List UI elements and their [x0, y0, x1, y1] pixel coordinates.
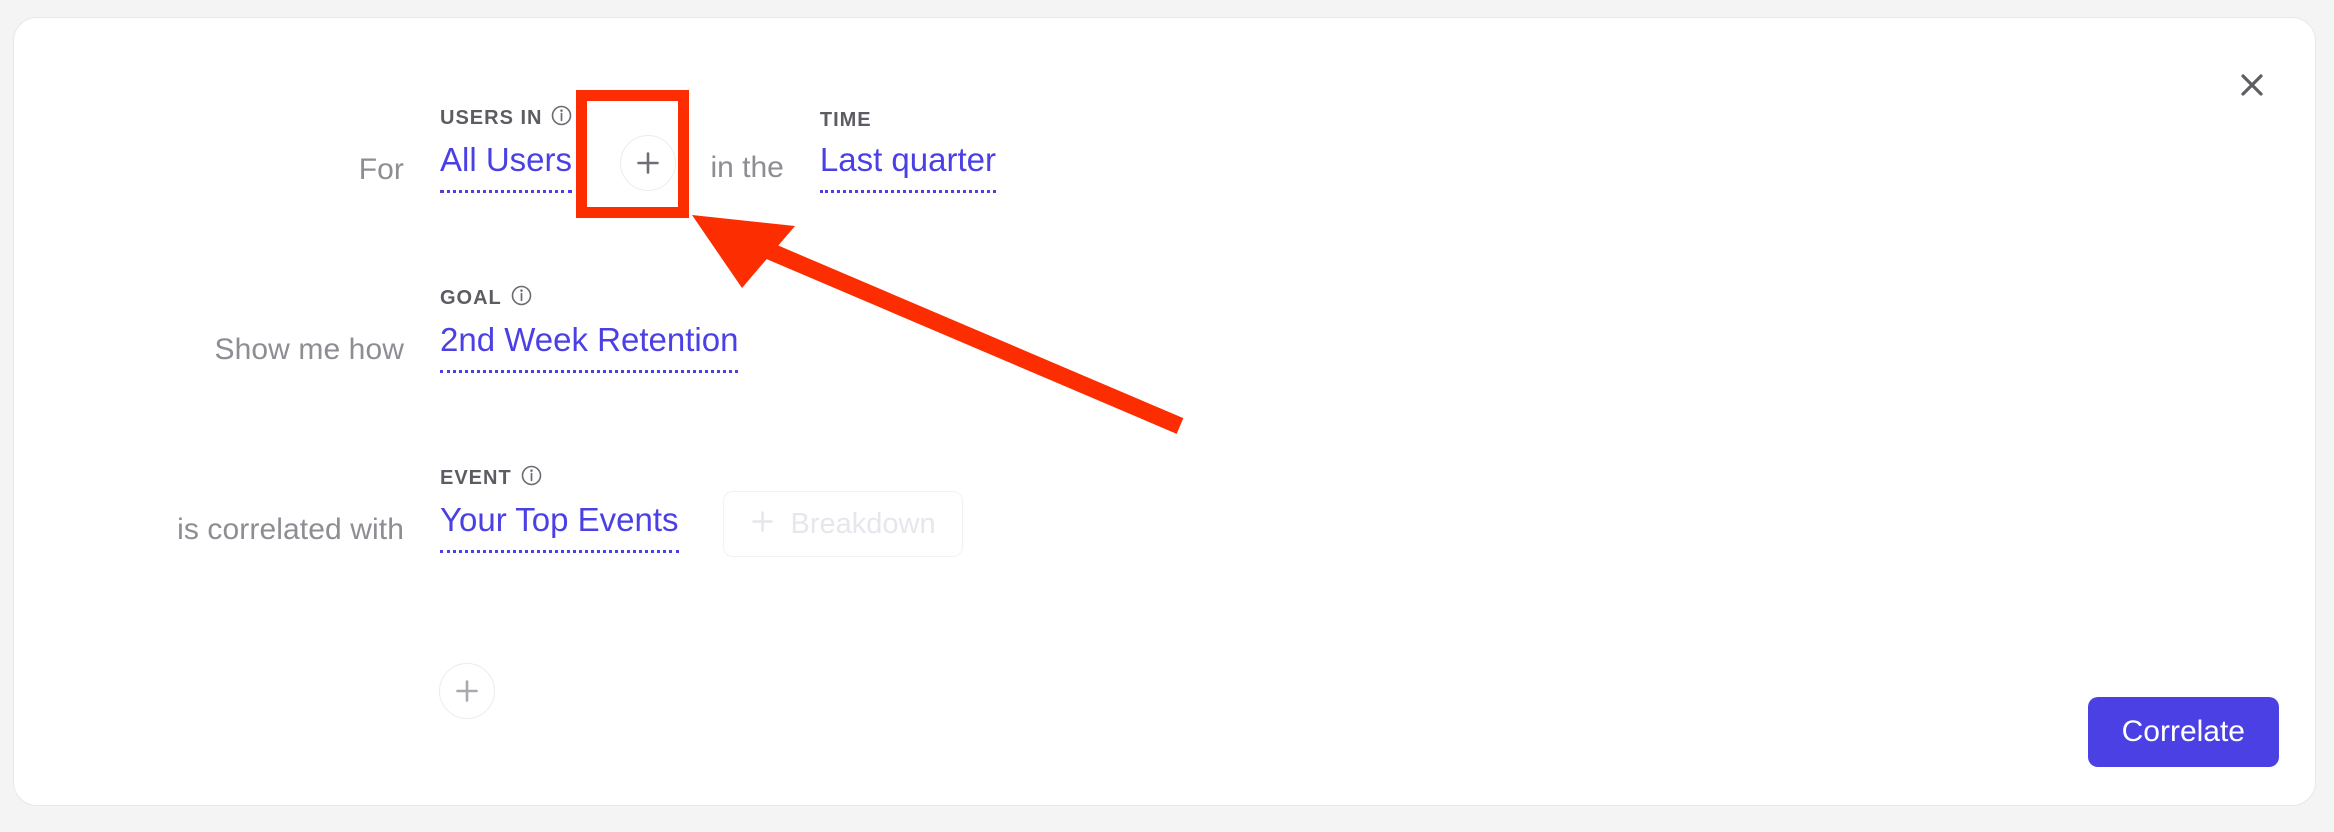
app-root: For USERS IN All Users	[0, 0, 2334, 832]
row-prefix-is-correlated-with: is correlated with	[14, 515, 404, 571]
field-value-users-in[interactable]: All Users	[440, 143, 572, 193]
add-breakdown-label: Breakdown	[791, 508, 936, 541]
plus-icon	[454, 678, 480, 704]
row-prefix-show-me-how: Show me how	[14, 335, 404, 391]
field-label-time: TIME	[820, 109, 996, 132]
field-value-goal[interactable]: 2nd Week Retention	[440, 323, 738, 373]
row-connector-in-the: in the	[710, 151, 783, 211]
add-breakdown-button[interactable]: Breakdown	[723, 491, 963, 557]
correlation-query-card: For USERS IN All Users	[13, 17, 2316, 806]
query-row-users: For USERS IN All Users	[14, 96, 2315, 211]
plus-icon	[750, 509, 775, 539]
info-icon[interactable]	[551, 105, 572, 132]
field-time: TIME Last quarter	[820, 109, 996, 211]
field-value-event[interactable]: Your Top Events	[440, 503, 679, 553]
field-label-text: GOAL	[440, 287, 502, 310]
add-query-row-slot	[439, 663, 495, 719]
add-query-row-button[interactable]	[439, 663, 495, 719]
field-event: EVENT Your Top Events	[440, 465, 679, 571]
field-label-text: EVENT	[440, 467, 512, 490]
field-value-time[interactable]: Last quarter	[820, 143, 996, 193]
field-label-event: EVENT	[440, 465, 679, 492]
info-icon[interactable]	[511, 285, 532, 312]
field-label-text: TIME	[820, 109, 872, 132]
add-cohort-filter-button[interactable]	[620, 135, 676, 191]
plus-icon	[635, 150, 661, 176]
field-label-users-in: USERS IN	[440, 105, 572, 132]
correlate-button[interactable]: Correlate	[2088, 697, 2279, 767]
field-goal: GOAL 2nd Week Retention	[440, 285, 738, 391]
query-row-goal: Show me how GOAL 2nd Week Retention	[14, 276, 2315, 391]
query-builder-rows: For USERS IN All Users	[14, 96, 2315, 571]
field-label-goal: GOAL	[440, 285, 738, 312]
info-icon[interactable]	[521, 465, 542, 492]
add-cohort-filter-slot	[620, 135, 676, 191]
field-users-in: USERS IN All Users	[440, 105, 572, 211]
query-row-event: is correlated with EVENT Your Top Event	[14, 456, 2315, 571]
row-prefix-for: For	[14, 155, 404, 211]
field-label-text: USERS IN	[440, 107, 542, 130]
